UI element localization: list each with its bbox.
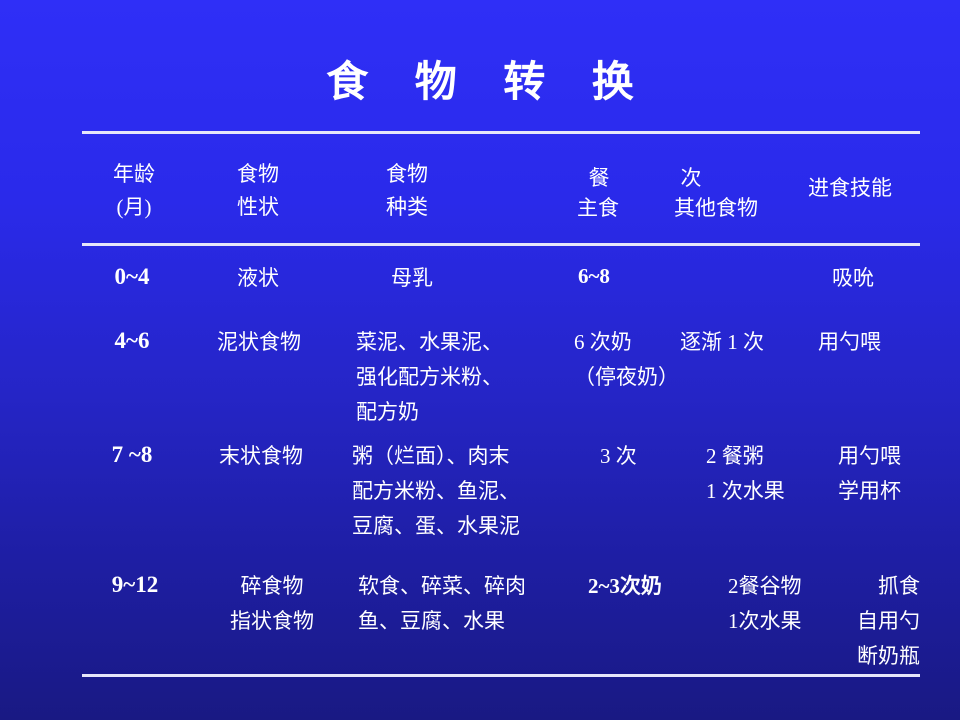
table-row-4-staple-line1: 2~3次奶	[588, 569, 662, 604]
column-header-food-texture-line2: 性状	[200, 191, 316, 224]
table-row-4-skill: 抓食 自用勺 断奶瓶	[838, 569, 920, 674]
table-row-2-other-line1: 逐渐 1 次	[680, 325, 764, 360]
table-row-3-kind-line2: 配方米粉、鱼泥、	[352, 474, 520, 509]
column-header-food-kind-line1: 食物	[342, 158, 472, 191]
table-rule-top	[82, 131, 920, 134]
column-header-times: 次	[660, 162, 722, 195]
column-header-other-food: 其他食物	[652, 192, 780, 225]
table-row-3-age: 7 ~8	[80, 437, 184, 472]
table-row-3-skill: 用勺喂 学用杯	[838, 439, 901, 509]
column-header-staple-food: 主食	[550, 192, 646, 225]
table-row-3-staple-line1: 3 次	[600, 439, 637, 474]
column-header-age: 年龄 (月)	[86, 158, 182, 224]
column-header-age-line2: (月)	[86, 191, 182, 224]
table-row-3-skill-line1: 用勺喂	[838, 439, 901, 474]
table-row-3-kind-line1: 粥（烂面）、肉末	[352, 439, 520, 474]
table-row-3-other: 2 餐粥 1 次水果	[706, 439, 785, 509]
column-header-food-kind-line2: 种类	[342, 191, 472, 224]
table-row-3-texture: 末状食物	[196, 439, 326, 474]
column-header-food-texture-line1: 食物	[200, 158, 316, 191]
table-rule-header-separator	[82, 243, 920, 246]
table-row-2-kind-line2: 强化配方米粉、	[356, 360, 503, 395]
table-row-2-skill-line1: 用勺喂	[818, 325, 881, 360]
slide-root: 食 物 转 换 年龄 (月) 食物 性状 食物 种类 餐 次 主食 其他食物 进…	[0, 0, 960, 720]
table-row-4-texture-line1: 碎食物	[202, 569, 342, 604]
table-row-2-age: 4~6	[82, 323, 182, 358]
table-row-3-other-line2: 1 次水果	[706, 474, 785, 509]
table-row-4-kind-line2: 鱼、豆腐、水果	[358, 604, 526, 639]
table-row-3-kind-line3: 豆腐、蛋、水果泥	[352, 509, 520, 544]
table-row-4-skill-line2: 自用勺	[838, 604, 920, 639]
column-header-age-line1: 年龄	[86, 158, 182, 191]
table-row-1-texture: 液状	[198, 261, 318, 296]
column-header-food-texture: 食物 性状	[200, 158, 316, 224]
page-title: 食 物 转 换	[0, 48, 960, 109]
table-row-3-kind: 粥（烂面）、肉末 配方米粉、鱼泥、 豆腐、蛋、水果泥	[352, 439, 520, 544]
table-row-4-skill-line1: 抓食	[838, 569, 920, 604]
table-row-2-staple-line2: （停夜奶）	[574, 360, 679, 395]
table-row-4-staple: 2~3次奶	[588, 569, 662, 604]
table-row-3-skill-line2: 学用杯	[838, 474, 901, 509]
table-row-1-staple: 6~8	[578, 259, 668, 294]
table-row-4-other: 2餐谷物 1次水果	[728, 569, 802, 639]
table-row-1-staple-line1: 6~8	[578, 259, 668, 294]
table-row-2-staple-line1: 6 次奶	[574, 325, 679, 360]
table-row-1-kind-line1: 母乳	[352, 261, 472, 296]
table-row-4-kind-line1: 软食、碎菜、碎肉	[358, 569, 526, 604]
table-row-2-kind: 菜泥、水果泥、 强化配方米粉、 配方奶	[356, 325, 503, 430]
column-header-meal: 餐	[568, 162, 630, 195]
table-row-2-skill: 用勺喂	[818, 325, 881, 360]
table-row-1-kind: 母乳	[352, 261, 472, 296]
table-row-4-texture-line2: 指状食物	[202, 604, 342, 639]
table-row-4-age: 9~12	[80, 567, 190, 602]
table-row-4-texture: 碎食物 指状食物	[202, 569, 342, 639]
table-row-4-other-line2: 1次水果	[728, 604, 802, 639]
table-row-3-other-line1: 2 餐粥	[706, 439, 785, 474]
column-header-feeding-skill: 进食技能	[782, 172, 918, 205]
column-header-food-kind: 食物 种类	[342, 158, 472, 224]
table-row-2-staple: 6 次奶 （停夜奶）	[574, 325, 679, 395]
table-rule-bottom	[82, 674, 920, 677]
table-row-2-texture: 泥状食物	[192, 325, 326, 360]
table-row-2-other: 逐渐 1 次	[680, 325, 764, 360]
table-row-1-skill-line1: 吸吮	[832, 261, 922, 296]
table-row-1-age: 0~4	[82, 259, 182, 294]
table-row-4-skill-line3: 断奶瓶	[838, 639, 920, 674]
table-row-2-kind-line3: 配方奶	[356, 395, 503, 430]
table-row-4-kind: 软食、碎菜、碎肉 鱼、豆腐、水果	[358, 569, 526, 639]
table-row-4-other-line1: 2餐谷物	[728, 569, 802, 604]
table-row-2-kind-line1: 菜泥、水果泥、	[356, 325, 503, 360]
table-row-1-skill: 吸吮	[832, 261, 922, 296]
table-row-3-staple: 3 次	[600, 439, 637, 474]
